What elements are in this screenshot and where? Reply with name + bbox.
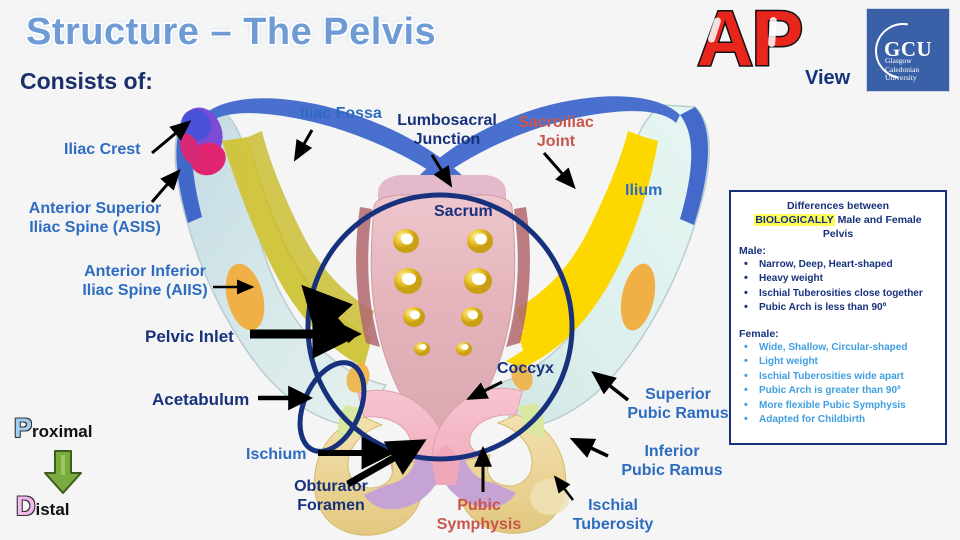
male-list: Narrow, Deep, Heart-shaped Heavy weight … (739, 258, 937, 316)
label-aiis-line1: Anterior Inferior (65, 263, 225, 282)
list-item: Pubic Arch is less than 90º (739, 301, 937, 316)
label-ischium: Ischium (246, 446, 306, 465)
male-heading: Male: (739, 245, 937, 257)
label-obturator-line2: Foramen (276, 497, 386, 516)
label-coccyx: Coccyx (497, 360, 554, 379)
female-heading: Female: (739, 328, 937, 340)
list-item: Narrow, Deep, Heart-shaped (739, 258, 937, 273)
distal-rest: istal (36, 500, 70, 519)
subtitle-consists-of: Consists of: (20, 68, 153, 95)
label-superior-pubic-ramus: Superior Pubic Ramus (618, 386, 738, 424)
proximal-initial: P (14, 413, 32, 443)
label-ilium: Ilium (625, 182, 662, 201)
info-box-spacer (739, 316, 937, 325)
label-lumbosacral-line2: Junction (395, 131, 499, 150)
label-ischial-tub-line1: Ischial (558, 497, 668, 516)
male-female-differences-box: Differences between BIOLOGICALLY Male an… (729, 190, 947, 445)
label-acetabulum: Acetabulum (152, 390, 249, 410)
label-iliac-crest: Iliac Crest (64, 141, 140, 160)
orientation-proximal: Proximal (14, 413, 93, 444)
orientation-indicator: Proximal Distal (8, 413, 128, 533)
down-arrow-icon (41, 449, 85, 495)
slide-canvas: Structure – The Pelvis Consists of: AP V… (0, 0, 960, 540)
info-title-highlight: BIOLOGICALLY (754, 214, 834, 226)
label-iliac-fossa: Iliac Fossa (300, 105, 382, 124)
label-aiis-line2: Iliac Spine (AIIS) (65, 282, 225, 301)
label-sacroiliac-joint: Sacroiliac Joint (510, 114, 602, 152)
page-title: Structure – The Pelvis (26, 11, 436, 54)
info-title-line1: Differences between (787, 200, 889, 212)
label-sacroiliac-line2: Joint (510, 133, 602, 152)
gcu-logo: GCU Glasgow Caledonian University (866, 8, 950, 92)
label-pubic-symphysis: Pubic Symphysis (435, 497, 523, 535)
label-asis-line1: Anterior Superior (15, 200, 175, 219)
label-ischial-tub-line2: Tuberosity (558, 516, 668, 535)
label-asis-line2: Iliac Spine (ASIS) (15, 219, 175, 238)
proximal-rest: roximal (32, 422, 92, 441)
label-superior-pubic-line1: Superior (618, 386, 738, 405)
label-sacrum: Sacrum (434, 203, 493, 222)
label-pelvic-inlet: Pelvic Inlet (145, 327, 234, 347)
list-item: Light weight (739, 355, 937, 370)
label-superior-pubic-line2: Pubic Ramus (618, 405, 738, 424)
info-box-title: Differences between BIOLOGICALLY Male an… (739, 199, 937, 242)
list-item: Pubic Arch is greater than 90º (739, 384, 937, 399)
female-list: Wide, Shallow, Circular-shaped Light wei… (739, 341, 937, 428)
orientation-distal: Distal (16, 491, 70, 522)
list-item: Heavy weight (739, 272, 937, 287)
label-pubic-symphysis-line1: Pubic (435, 497, 523, 516)
label-sacroiliac-line1: Sacroiliac (510, 114, 602, 133)
label-inferior-pubic-ramus: Inferior Pubic Ramus (612, 443, 732, 481)
list-item: More flexible Pubic Symphysis (739, 399, 937, 414)
label-aiis: Anterior Inferior Iliac Spine (AIIS) (65, 263, 225, 301)
ap-view-label: View (805, 67, 850, 90)
info-title-line3: Pelvis (823, 228, 853, 240)
ap-view-badge: AP View (697, 5, 857, 95)
label-inferior-pubic-line2: Pubic Ramus (612, 462, 732, 481)
distal-initial: D (16, 491, 36, 521)
logo-university-name: Glasgow Caledonian University (885, 57, 947, 83)
label-pubic-symphysis-line2: Symphysis (435, 516, 523, 535)
label-lumbosacral-junction: Lumbosacral Junction (395, 112, 499, 150)
label-lumbosacral-line1: Lumbosacral (395, 112, 499, 131)
list-item: Adapted for Childbirth (739, 413, 937, 428)
label-ischial-tuberosity: Ischial Tuberosity (558, 497, 668, 535)
label-inferior-pubic-line1: Inferior (612, 443, 732, 462)
label-obturator-line1: Obturator (276, 478, 386, 497)
list-item: Wide, Shallow, Circular-shaped (739, 341, 937, 356)
list-item: Ischial Tuberosities close together (739, 287, 937, 302)
list-item: Ischial Tuberosities wide apart (739, 370, 937, 385)
label-obturator-foramen: Obturator Foramen (276, 478, 386, 516)
info-title-line2-rest: Male and Female (835, 214, 922, 226)
label-asis: Anterior Superior Iliac Spine (ASIS) (15, 200, 175, 238)
